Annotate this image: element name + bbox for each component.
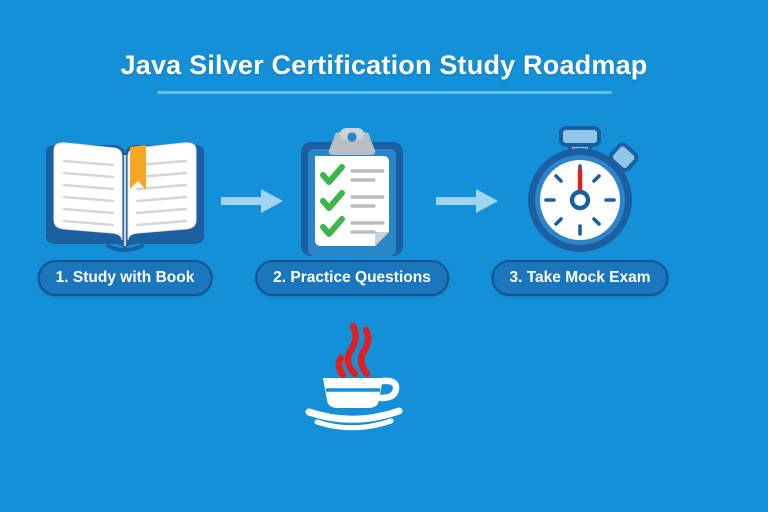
java-coffee-cup-logo <box>295 318 415 430</box>
step-3-take-mock-exam[interactable]: 3. Take Mock Exam <box>485 128 675 303</box>
stopwatch-icon <box>485 128 675 256</box>
step-1-label-pill[interactable]: 1. Study with Book <box>38 260 213 296</box>
title-block: Java Silver Certification Study Roadmap <box>0 48 768 94</box>
title-underline <box>157 91 612 94</box>
java-saucer-icon <box>309 411 399 419</box>
java-cup-icon <box>323 378 383 408</box>
open-book-icon <box>30 128 220 256</box>
page-title: Java Silver Certification Study Roadmap <box>0 48 768 82</box>
step-2-practice-questions[interactable]: 2. Practice Questions <box>257 128 447 303</box>
step-3-icon-wrap <box>485 128 675 256</box>
java-steam-icon <box>339 326 368 375</box>
step-1-study-with-book[interactable]: 1. Study with Book <box>30 128 220 303</box>
step-2-icon-wrap <box>257 128 447 256</box>
infographic-canvas: Java Silver Certification Study Roadmap <box>0 0 768 512</box>
step-1-icon-wrap <box>30 128 220 256</box>
step-3-label-pill[interactable]: 3. Take Mock Exam <box>491 260 668 296</box>
step-2-label-pill[interactable]: 2. Practice Questions <box>255 260 449 296</box>
clipboard-checklist-icon <box>257 128 447 256</box>
